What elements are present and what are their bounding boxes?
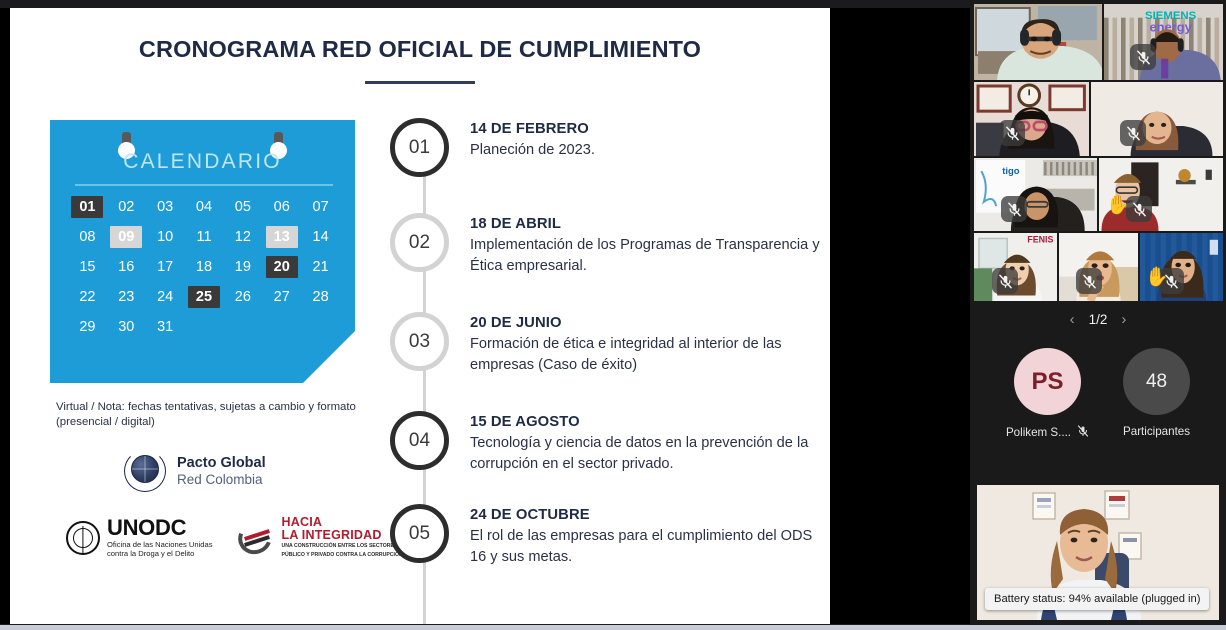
calendar-day: 31 [146, 316, 185, 338]
mic-muted-icon [1001, 196, 1027, 222]
page-title: CRONOGRAMA RED OFICIAL DE CUMPLIMIENTO [10, 36, 830, 63]
hacia-sub-line1: UNA CONSTRUCCIÓN ENTRE LOS SECTORES [282, 543, 403, 550]
unodc-sub-line1: Oficina de las Naciones Unidas [107, 540, 213, 550]
timeline-step-badge: 03 [390, 312, 449, 371]
calendar-divider [75, 184, 333, 186]
timeline-item-description: Planeción de 2023. [470, 140, 595, 161]
calendar-day: 14 [301, 226, 340, 248]
calendar-day: 28 [301, 286, 340, 308]
timeline-item-description: Implementación de los Programas de Trans… [470, 235, 820, 276]
calendar-day: 02 [107, 196, 146, 218]
participant-video-tile[interactable] [974, 4, 1102, 80]
mic-muted-icon [992, 268, 1018, 294]
calendar-day: 07 [301, 196, 340, 218]
calendar-day: 10 [146, 226, 185, 248]
calendar-day: 26 [223, 286, 262, 308]
hacia-la-integridad-logo: HACIA LA INTEGRIDAD UNA CONSTRUCCIÓN ENT… [237, 516, 403, 559]
timeline-item-date: 20 DE JUNIO [470, 315, 820, 331]
timeline: 0114 DE FEBREROPlaneción de 2023.0218 DE… [390, 118, 820, 567]
timeline-item: 0320 DE JUNIOFormación de ética e integr… [390, 312, 820, 375]
timeline-step-badge: 05 [390, 504, 449, 563]
mic-muted-icon [1130, 44, 1156, 70]
timeline-item: 0114 DE FEBREROPlaneción de 2023. [390, 118, 820, 177]
shared-content-stage[interactable]: CRONOGRAMA RED OFICIAL DE CUMPLIMIENTO C… [0, 0, 970, 630]
self-view-tile[interactable]: Battery status: 94% available (plugged i… [977, 485, 1219, 620]
calendar-day-grid: 0102030405060708091011121314151617181920… [68, 196, 340, 338]
timeline-item-date: 14 DE FEBRERO [470, 121, 595, 137]
calendar-day: 13 [266, 226, 298, 248]
timeline-item-description: El rol de las empresas para el cumplimie… [470, 526, 820, 567]
participant-video-tile[interactable]: SIEMENSenergy [1104, 4, 1223, 80]
timeline-item-body: 15 DE AGOSTOTecnología y ciencia de dato… [449, 411, 820, 474]
pacto-global-sub: Red Colombia [177, 472, 266, 487]
avatar-row: PSPolikem S....48Participantes [970, 348, 1226, 440]
calendar-day: 30 [107, 316, 146, 338]
title-underline [365, 81, 475, 84]
participants-count-badge: 48 [1123, 348, 1190, 415]
svg-text:tigo: tigo [1002, 166, 1020, 177]
calendar-day: 18 [185, 256, 224, 278]
calendar-day: 17 [146, 256, 185, 278]
participants-label: Participantes [1123, 425, 1190, 438]
pacto-global-logo: Pacto Global Red Colombia [122, 448, 266, 494]
stage-top-bar [0, 0, 970, 8]
calendar-day: 27 [262, 286, 301, 308]
avatar: PS [1014, 348, 1081, 415]
calendar-day: 20 [266, 256, 298, 278]
participant-video-tile[interactable]: FENIS [974, 233, 1057, 301]
timeline-item: 0524 DE OCTUBREEl rol de las empresas pa… [390, 504, 820, 567]
timeline-item-description: Tecnología y ciencia de datos en la prev… [470, 433, 820, 474]
calendar-graphic: CALENDARIO 01020304050607080910111213141… [50, 120, 355, 383]
timeline-item-date: 15 DE AGOSTO [470, 414, 820, 430]
raised-hand-icon: ✋ [1106, 196, 1130, 215]
participant-name: Polikem S.... [1006, 426, 1071, 439]
partner-logos-row: UNODC Oficina de las Naciones Unidas con… [66, 516, 403, 559]
participants-count-tile[interactable]: 48Participantes [1123, 348, 1190, 440]
timeline-item-date: 24 DE OCTUBRE [470, 507, 820, 523]
calendar-day: 22 [68, 286, 107, 308]
hacia-line1: HACIA [282, 516, 403, 529]
mic-muted-icon [1120, 120, 1146, 146]
un-emblem-icon [66, 521, 100, 555]
unodc-sub-line2: contra la Droga y el Delito [107, 549, 213, 559]
calendar-day: 04 [185, 196, 224, 218]
timeline-step-badge: 02 [390, 213, 449, 272]
unodc-logo: UNODC Oficina de las Naciones Unidas con… [66, 516, 213, 558]
raised-hand-icon: ✋ [1145, 268, 1169, 287]
calendar-day: 05 [223, 196, 262, 218]
avatar-label-row: Participantes [1123, 425, 1190, 438]
participant-video-tile[interactable]: ✋ [1099, 158, 1223, 231]
timeline-item-body: 18 DE ABRILImplementación de los Program… [449, 213, 820, 276]
chevron-left-icon[interactable]: ‹ [1070, 311, 1075, 328]
calendar-day: 16 [107, 256, 146, 278]
hacia-sub-line2: PÚBLICO Y PRIVADO CONTRA LA CORRUPCIÓN [282, 552, 403, 559]
calendar-day: 01 [71, 196, 103, 218]
participant-video-tile[interactable]: ✋ [1140, 233, 1223, 301]
timeline-item: 0415 DE AGOSTOTecnología y ciencia de da… [390, 411, 820, 474]
timeline-step-badge: 01 [390, 118, 449, 177]
video-roster-panel: SIEMENSenergytigo✋FENIS✋ ‹ 1/2 › PSPolik… [970, 0, 1226, 630]
participant-video-tile[interactable] [974, 82, 1089, 156]
timeline-item-body: 24 DE OCTUBREEl rol de las empresas para… [449, 504, 820, 567]
page-indicator: 1/2 [1089, 312, 1108, 327]
calendar-day: 19 [223, 256, 262, 278]
calendar-note: Virtual / Nota: fechas tentativas, sujet… [56, 400, 356, 429]
unodc-name: UNODC [107, 516, 213, 539]
window-bottom-edge [0, 625, 1226, 630]
calendar-day: 09 [110, 226, 142, 248]
calendar-day: 24 [146, 286, 185, 308]
calendar-day: 21 [301, 256, 340, 278]
calendar-day: 03 [146, 196, 185, 218]
timeline-item-body: 20 DE JUNIOFormación de ética e integrid… [449, 312, 820, 375]
participant-video-tile[interactable] [1091, 82, 1223, 156]
app-root: CRONOGRAMA RED OFICIAL DE CUMPLIMIENTO C… [0, 0, 1226, 630]
calendar-day: 11 [185, 226, 224, 248]
battery-status-tooltip: Battery status: 94% available (plugged i… [985, 588, 1209, 610]
mic-muted-icon [1076, 268, 1102, 294]
swoosh-icon [237, 519, 277, 557]
calendar-day: 25 [188, 286, 220, 308]
calendar-day: 23 [107, 286, 146, 308]
timeline-item: 0218 DE ABRILImplementación de los Progr… [390, 213, 820, 276]
timeline-item-date: 18 DE ABRIL [470, 216, 820, 232]
calendar-day: 06 [262, 196, 301, 218]
globe-icon [122, 448, 168, 494]
timeline-step-badge: 04 [390, 411, 449, 470]
calendar-day: 29 [68, 316, 107, 338]
participant-video-tile[interactable] [1059, 233, 1138, 301]
calendar-heading: CALENDARIO [50, 150, 355, 174]
timeline-item-description: Formación de ética e integridad al inter… [470, 334, 820, 375]
svg-text:FENIS: FENIS [1027, 235, 1053, 245]
participant-video-tile[interactable]: tigo [974, 158, 1097, 231]
hacia-line2: LA INTEGRIDAD [282, 529, 403, 542]
calendar-fold-corner [303, 331, 355, 383]
participant-avatar-tile[interactable]: PSPolikem S.... [1006, 348, 1089, 440]
calendar-day: 12 [223, 226, 262, 248]
pacto-global-name: Pacto Global [177, 455, 266, 471]
roster-pagination: ‹ 1/2 › [970, 303, 1226, 335]
timeline-item-body: 14 DE FEBREROPlaneción de 2023. [449, 118, 595, 161]
calendar-day: 08 [68, 226, 107, 248]
avatar-label-row: Polikem S.... [1006, 425, 1089, 440]
presentation-slide: CRONOGRAMA RED OFICIAL DE CUMPLIMIENTO C… [10, 8, 830, 624]
chevron-right-icon[interactable]: › [1121, 311, 1126, 328]
participant-video-grid: SIEMENSenergytigo✋FENIS✋ [974, 4, 1223, 301]
mic-muted-icon [999, 120, 1025, 146]
mic-muted-icon [1077, 425, 1089, 440]
calendar-day: 15 [68, 256, 107, 278]
